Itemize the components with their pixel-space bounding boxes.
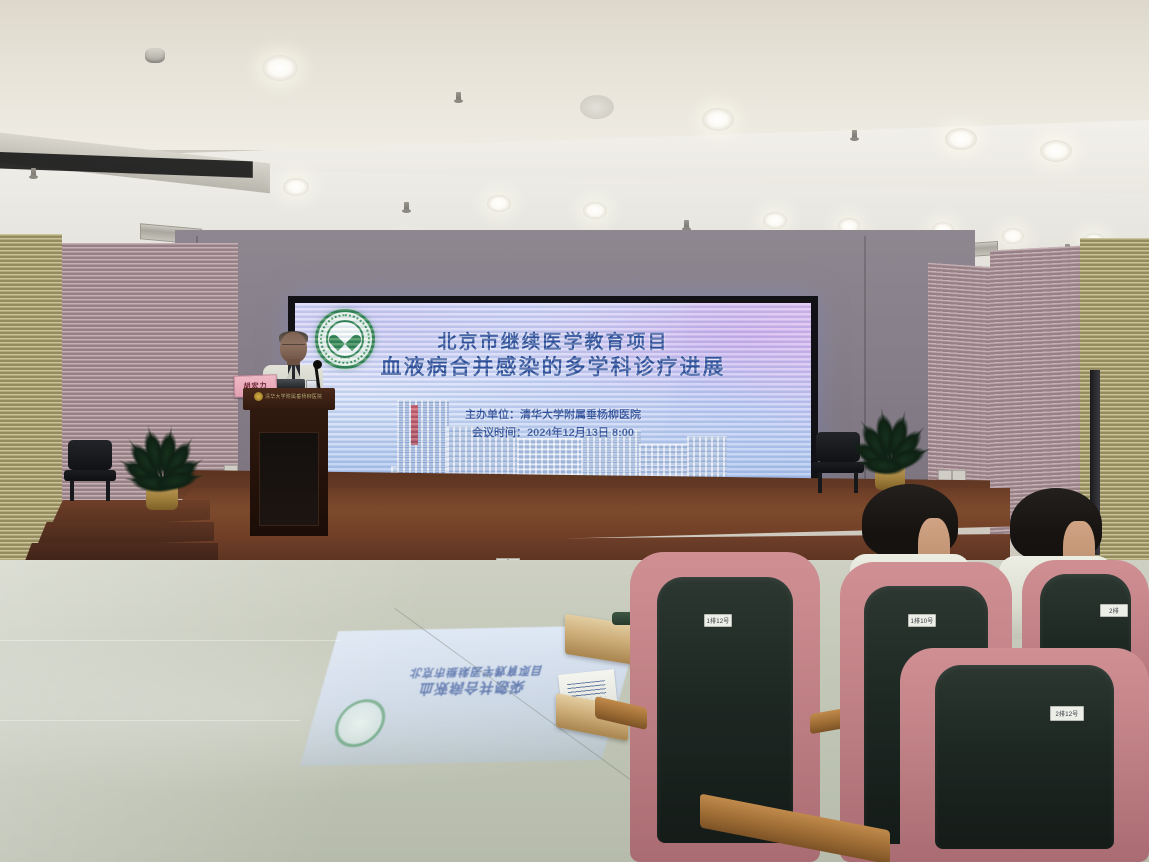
acoustic-panel-left-bamboo	[0, 234, 62, 564]
chair-leg	[854, 472, 858, 493]
floor-tile-seam	[0, 720, 300, 721]
podium-front-panel	[259, 432, 319, 526]
wall-power-outlet[interactable]	[952, 470, 966, 481]
palm-frond	[854, 461, 892, 468]
reflected-emblem-icon	[329, 699, 391, 748]
sprinkler-head	[31, 168, 36, 177]
slide-subtitle: 主办单位：清华大学附属垂杨柳医院 会议时间：2024年12月13日 8:00	[295, 407, 811, 442]
chair-leg	[70, 480, 74, 501]
ceiling-downlight	[283, 178, 309, 196]
sprinkler-head	[404, 202, 409, 211]
ceiling-downlight	[487, 195, 511, 212]
podium-logo-text: 清华大学附属垂杨柳医院	[265, 393, 322, 400]
microphone-icon[interactable]	[313, 360, 322, 369]
led-presentation-screen[interactable]: 1978 北京市继续医学教育项目 血液病合并感染的多学科诊疗进展 主办单位：清华…	[295, 303, 811, 491]
ceiling-downlight	[262, 55, 298, 81]
university-crest-icon	[254, 392, 263, 401]
ceiling-downlight	[1040, 140, 1072, 162]
sprinkler-head	[852, 130, 857, 139]
chair-leg	[106, 480, 110, 501]
seat-number-label: 2排	[1100, 604, 1128, 617]
seat-number-text: 1排10号	[910, 616, 933, 625]
sprinkler-head	[684, 220, 689, 229]
seat-number-label: 2排12号	[1050, 706, 1084, 721]
ceiling-downlight	[583, 202, 607, 219]
seat-number-label: 1排10号	[908, 614, 936, 627]
wall-power-outlet[interactable]	[938, 470, 952, 481]
podium-logo: 清华大学附属垂杨柳医院	[254, 391, 326, 402]
ceiling-vent-disc	[580, 96, 612, 119]
reflection-line1: 血液病合并感染	[417, 679, 527, 697]
sprinkler-head	[456, 92, 461, 101]
ceiling-downlight	[1002, 228, 1024, 244]
ceiling-downlight	[702, 108, 734, 131]
slide-title-line1: 北京市继续医学教育项目	[295, 331, 811, 355]
potted-palm-left	[120, 372, 204, 484]
slide-time: 会议时间：2024年12月13日 8:00	[295, 425, 811, 443]
seat-number-text: 1排12号	[706, 616, 729, 625]
potted-palm-right	[850, 358, 930, 466]
smoke-detector	[145, 48, 165, 63]
slide-title: 北京市继续医学教育项目 血液病合并感染的多学科诊疗进展	[295, 331, 811, 382]
conference-hall-photo: 1978 北京市继续医学教育项目 血液病合并感染的多学科诊疗进展 主办单位：清华…	[0, 0, 1149, 862]
seat-number-label: 1排12号	[704, 614, 732, 627]
ceiling-downlight	[763, 212, 787, 229]
chair-leg	[818, 472, 822, 493]
seat-backrest-pad	[935, 665, 1114, 849]
seat-number-text: 2排	[1109, 606, 1119, 615]
seat-number-text: 2排12号	[1055, 709, 1078, 718]
ceiling-downlight	[945, 128, 977, 150]
audience-seat[interactable]: 2排12号	[900, 648, 1149, 862]
slide-title-line2: 血液病合并感染的多学科诊疗进展	[295, 355, 811, 382]
lectern-podium: 胡宏力 清华大学附属垂杨柳医院	[243, 388, 335, 550]
slide-organizer: 主办单位：清华大学附属垂杨柳医院	[295, 407, 811, 425]
stage-chair-left[interactable]	[62, 440, 118, 502]
floor-tile-seam	[0, 640, 340, 641]
chair-backrest	[68, 440, 112, 470]
palm-frond	[163, 474, 205, 486]
glasses-icon	[282, 344, 305, 351]
